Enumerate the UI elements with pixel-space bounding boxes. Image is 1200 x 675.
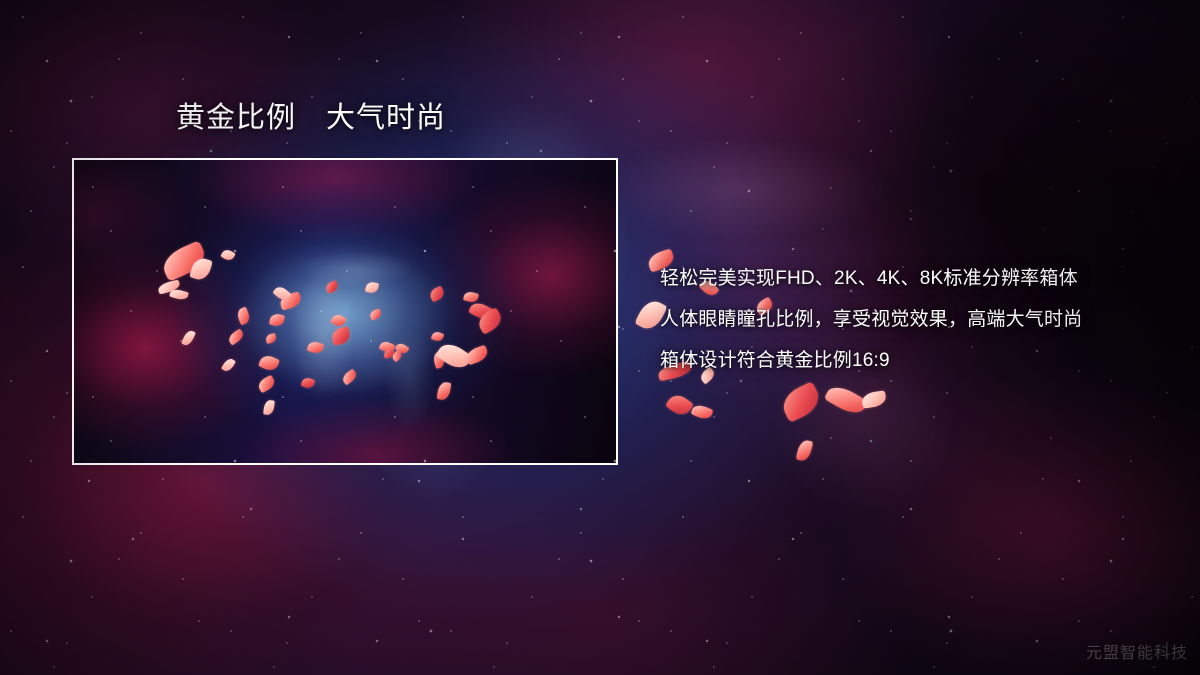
petal-outer bbox=[665, 391, 694, 419]
watermark: 元盟智能科技 bbox=[1086, 639, 1188, 663]
body-line-2: 人体眼睛瞳孔比例，享受视觉效果，高端大气时尚 bbox=[660, 299, 1180, 340]
petal-outer bbox=[778, 381, 824, 423]
petal-outer bbox=[861, 390, 887, 408]
petal-outer bbox=[690, 403, 713, 422]
image-content bbox=[74, 160, 616, 463]
inner-starfield bbox=[74, 160, 616, 463]
page-title: 黄金比例 大气时尚 bbox=[176, 103, 446, 135]
body-line-3: 箱体设计符合黄金比例16:9 bbox=[660, 340, 1180, 381]
petal-outer bbox=[796, 439, 814, 463]
slide-canvas: 黄金比例 大气时尚 轻松完美实现FHD、2K、4K、8K标准分辨率箱体 人体眼睛… bbox=[0, 0, 1200, 675]
petal-outer bbox=[824, 381, 869, 418]
body-text-block: 轻松完美实现FHD、2K、4K、8K标准分辨率箱体 人体眼睛瞳孔比例，享受视觉效… bbox=[660, 258, 1180, 381]
framed-image bbox=[72, 158, 618, 465]
body-line-1: 轻松完美实现FHD、2K、4K、8K标准分辨率箱体 bbox=[660, 258, 1180, 299]
